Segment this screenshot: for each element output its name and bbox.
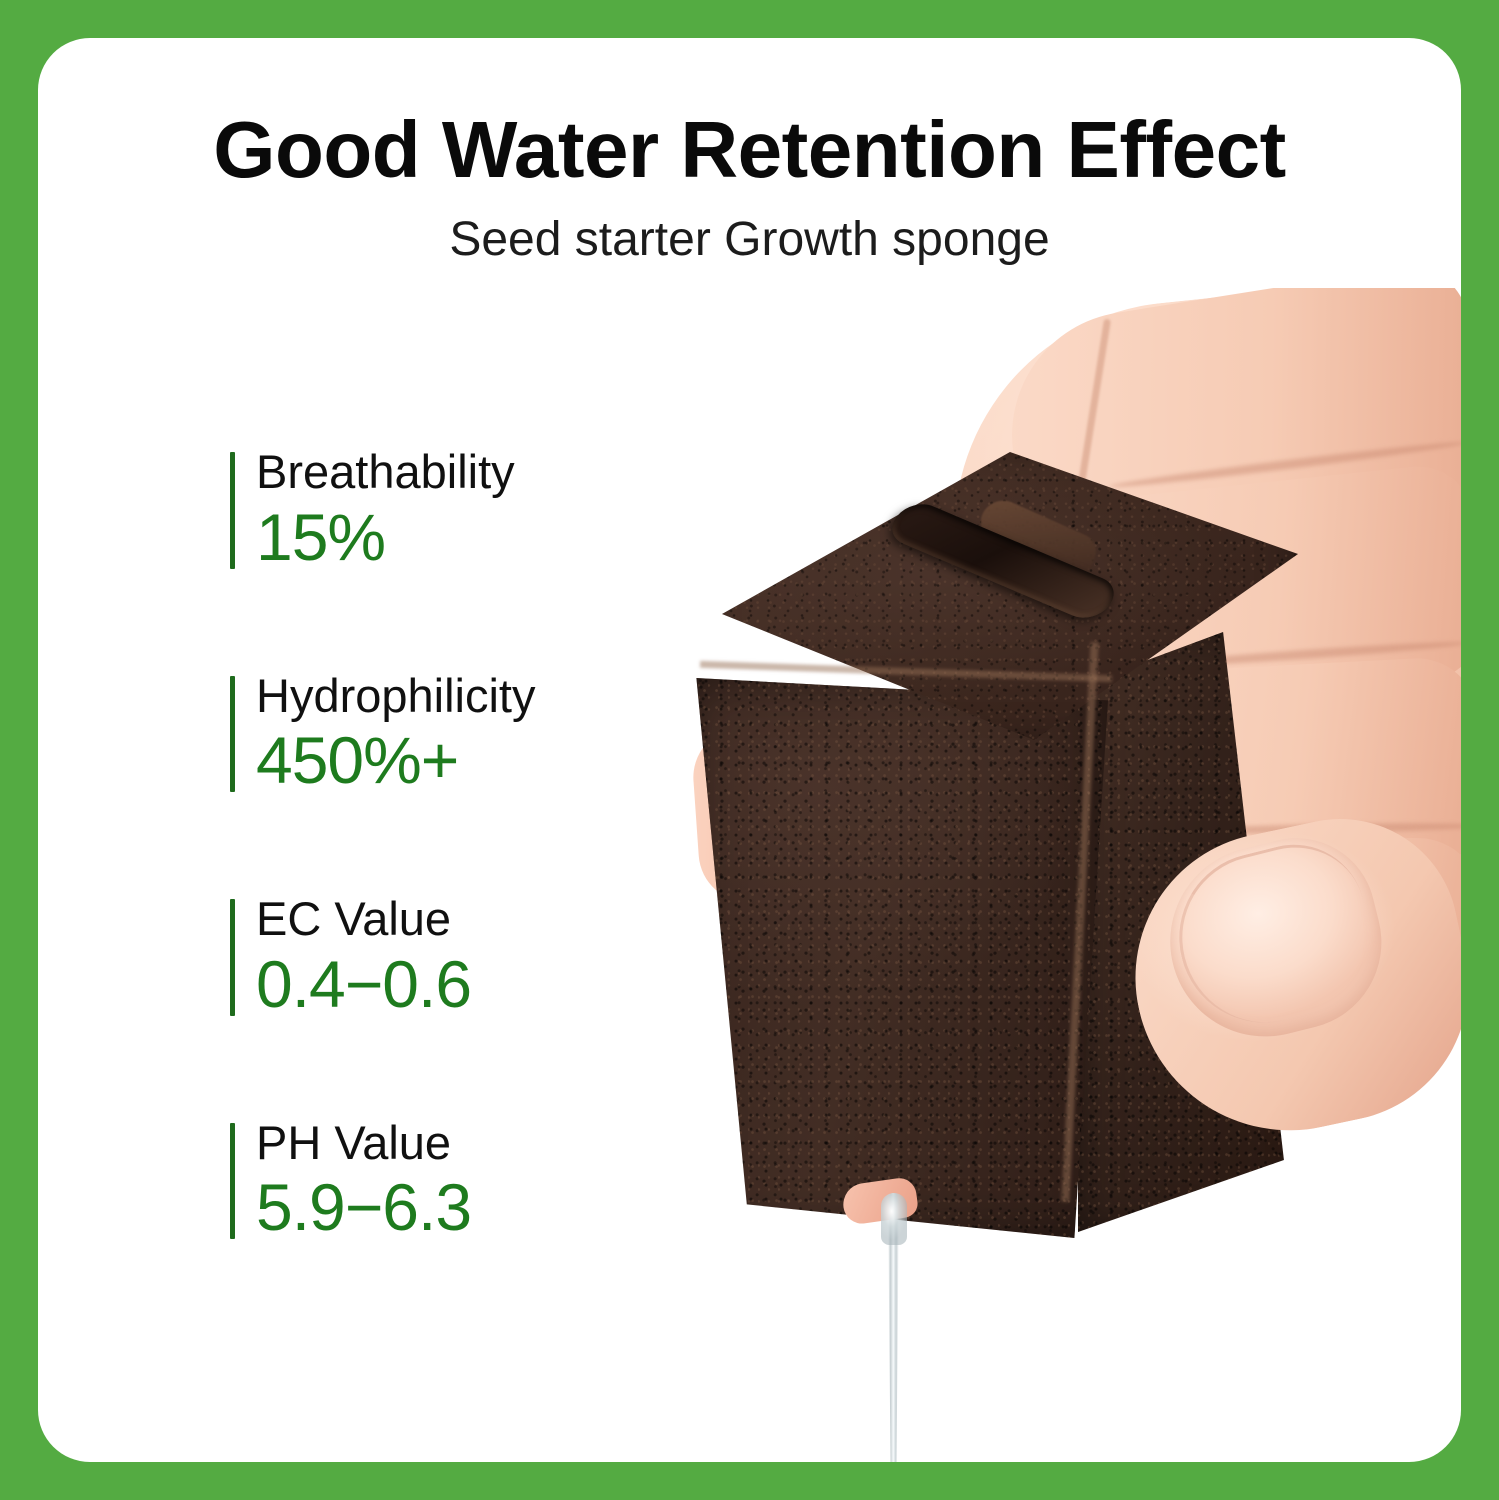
page-subtitle: Seed starter Growth sponge <box>38 190 1461 264</box>
product-photo <box>638 288 1461 1462</box>
seed-starter-sponge <box>678 446 1318 1236</box>
spec-label: PH Value <box>256 1117 700 1170</box>
spec-item-ec-value: EC Value 0.4−0.6 <box>230 893 700 1024</box>
water-droplet <box>881 1193 907 1245</box>
accent-bar <box>230 452 235 569</box>
sponge-texture <box>688 678 1108 1238</box>
page-title: Good Water Retention Effect <box>38 38 1461 190</box>
spec-list: Breathability 15% Hydrophilicity 450%+ E… <box>230 446 700 1247</box>
spec-item-breathability: Breathability 15% <box>230 446 700 577</box>
spec-item-hydrophilicity: Hydrophilicity 450%+ <box>230 670 700 801</box>
spec-value: 5.9−6.3 <box>256 1169 700 1247</box>
spec-value: 450%+ <box>256 722 700 800</box>
spec-value: 0.4−0.6 <box>256 946 700 1024</box>
product-infographic: Good Water Retention Effect Seed starter… <box>0 0 1499 1500</box>
accent-bar <box>230 899 235 1016</box>
spec-label: Breathability <box>256 446 700 499</box>
spec-item-ph-value: PH Value 5.9−6.3 <box>230 1117 700 1248</box>
sponge-front-face <box>688 678 1108 1238</box>
spec-value: 15% <box>256 499 700 577</box>
white-content-card: Good Water Retention Effect Seed starter… <box>38 38 1461 1462</box>
spec-label: Hydrophilicity <box>256 670 700 723</box>
spec-label: EC Value <box>256 893 700 946</box>
accent-bar <box>230 1123 235 1240</box>
water-drip <box>881 1193 907 1462</box>
heading-block: Good Water Retention Effect Seed starter… <box>38 38 1461 264</box>
accent-bar <box>230 676 235 793</box>
